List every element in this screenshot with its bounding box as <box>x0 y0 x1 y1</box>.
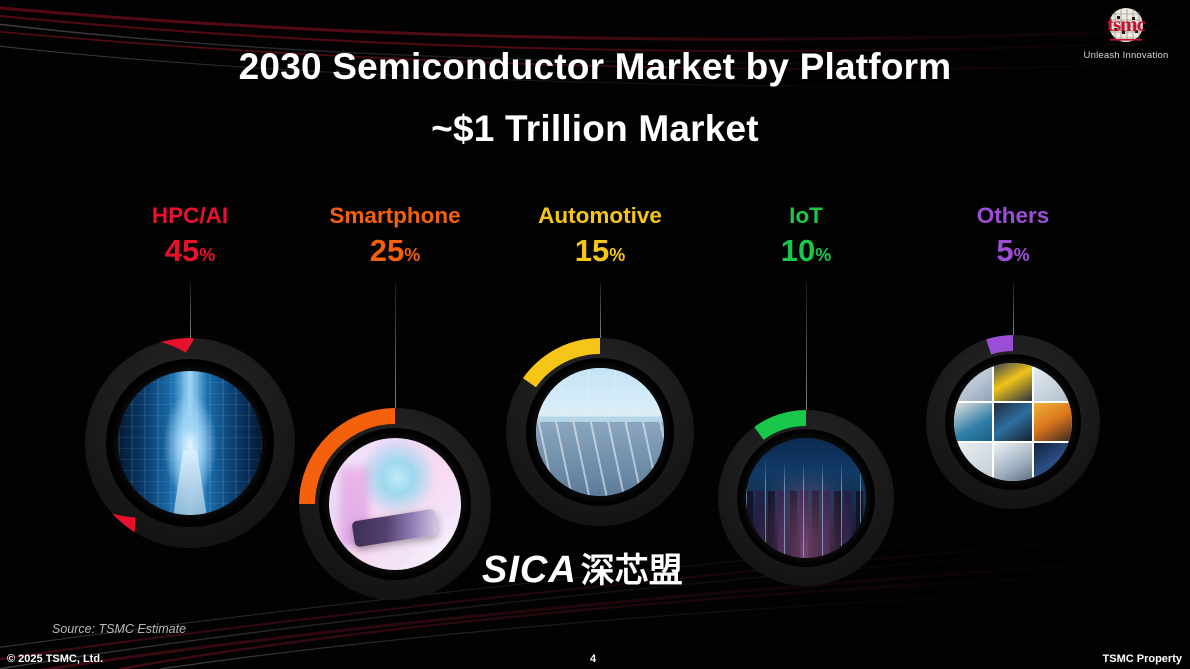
platform-label-group: Others 5% <box>893 205 1133 266</box>
svg-text:tsmc: tsmc <box>1107 12 1146 36</box>
platform-label-group: Smartphone 25% <box>275 205 515 266</box>
platform-name: IoT <box>686 205 926 228</box>
leader-line <box>600 283 601 338</box>
platform-label-group: HPC/AI 45% <box>70 205 310 266</box>
percent-sign: % <box>404 245 420 265</box>
percent-value: 5 <box>996 233 1013 268</box>
percent-value: 10 <box>781 233 815 268</box>
leader-line <box>1013 283 1014 335</box>
source-note: Source: TSMC Estimate <box>52 622 186 636</box>
platform-image-smartphone <box>329 438 461 570</box>
platform-percent: 15% <box>480 235 720 266</box>
platform-name: HPC/AI <box>70 205 310 228</box>
leader-line <box>190 283 191 338</box>
leader-line <box>806 283 807 410</box>
percent-sign: % <box>199 245 215 265</box>
platform-name: Smartphone <box>275 205 515 228</box>
donut-ring-others[interactable] <box>926 335 1100 509</box>
percent-value: 15 <box>575 233 609 268</box>
slide-title: 2030 Semiconductor Market by Platform ~$… <box>0 48 1190 147</box>
platform-percent: 25% <box>275 235 515 266</box>
slide-canvas: tsmc Unleash Innovation 2030 Semiconduct… <box>0 0 1190 669</box>
platform-percent: 10% <box>686 235 926 266</box>
title-line-2: ~$1 Trillion Market <box>0 110 1190 147</box>
watermark-latin: SICA <box>482 549 577 592</box>
platform-label-group: Automotive 15% <box>480 205 720 266</box>
percent-sign: % <box>609 245 625 265</box>
donut-ring-hpc-ai[interactable] <box>85 338 295 548</box>
platform-name: Automotive <box>480 205 720 228</box>
donut-ring-smartphone[interactable] <box>299 408 491 600</box>
footer-bar: © 2025 TSMC, Ltd. 4 TSMC Property <box>0 647 1190 669</box>
platform-image-others <box>954 363 1072 481</box>
platform-image-hpc-ai <box>118 371 262 515</box>
platform-percent: 45% <box>70 235 310 266</box>
percent-value: 25 <box>370 233 404 268</box>
property-notice: TSMC Property <box>1103 653 1182 665</box>
platform-percent: 5% <box>893 235 1133 266</box>
copyright-text: © 2025 TSMC, Ltd. <box>7 653 103 665</box>
percent-sign: % <box>815 245 831 265</box>
percent-value: 45 <box>165 233 199 268</box>
donut-ring-automotive[interactable] <box>506 338 694 526</box>
page-number: 4 <box>590 653 596 665</box>
donut-ring-iot[interactable] <box>718 410 894 586</box>
platform-image-automotive <box>536 368 664 496</box>
percent-sign: % <box>1014 245 1030 265</box>
tsmc-wafer-icon: tsmc <box>1091 4 1161 48</box>
sica-watermark: SICA 深芯盟 <box>482 543 683 592</box>
platform-label-group: IoT 10% <box>686 205 926 266</box>
watermark-cjk: 深芯盟 <box>581 543 683 592</box>
leader-line <box>395 283 396 408</box>
title-line-1: 2030 Semiconductor Market by Platform <box>0 48 1190 85</box>
platform-image-iot <box>746 438 866 558</box>
platform-name: Others <box>893 205 1133 228</box>
